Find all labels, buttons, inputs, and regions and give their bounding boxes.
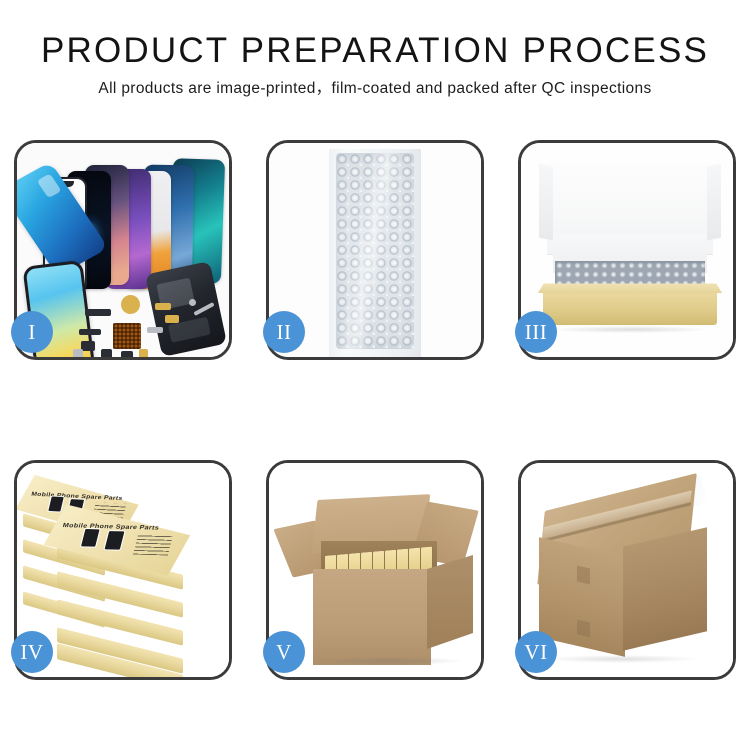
box-spec-lines-front <box>133 534 173 555</box>
part-button-icon <box>101 349 112 357</box>
product-preparation-infographic: PRODUCT PREPARATION PROCESS All products… <box>0 0 750 750</box>
part-sim-tray-icon <box>73 349 83 357</box>
step-panel-stacked-inner-boxes: Mobile Phone Spare Parts Mobile Pho <box>14 460 232 680</box>
process-steps-grid: I II <box>0 140 750 680</box>
box-artwork-screen-d <box>103 530 126 551</box>
step-panel-open-shipping-carton: V <box>266 460 484 680</box>
step-panel-sealed-shipping-carton: VI <box>518 460 736 680</box>
part-connector-a-icon <box>79 329 101 335</box>
inner-box-shadow <box>551 326 709 333</box>
part-speaker-icon <box>85 309 111 316</box>
step-panel-open-inner-box: III <box>518 140 736 360</box>
step-badge-6: VI <box>515 631 557 673</box>
part-camera-icon <box>121 351 133 357</box>
carton-handle-tab-bottom <box>577 619 590 637</box>
carton-shadow <box>313 657 463 665</box>
step-panel-products-and-spare-parts: I <box>14 140 232 360</box>
step-badge-2: II <box>263 311 305 353</box>
part-coil-icon <box>121 295 140 314</box>
step-badge-4: IV <box>11 631 53 673</box>
bubble-wrap-highlight <box>336 153 414 349</box>
page-title: PRODUCT PREPARATION PROCESS <box>0 30 750 72</box>
carton-side-face <box>427 555 473 649</box>
carton-front-face <box>313 569 431 665</box>
step-badge-5: V <box>263 631 305 673</box>
step-badge-3: III <box>515 311 557 353</box>
process-row-bottom: Mobile Phone Spare Parts Mobile Pho <box>0 460 750 680</box>
part-bracket-icon <box>147 327 163 333</box>
part-screw-pack-icon <box>139 349 148 357</box>
part-chip-array-icon <box>113 323 141 349</box>
sealed-carton-shadow <box>547 655 697 663</box>
part-flex-b-icon <box>165 315 179 323</box>
carton-handle-tab-top <box>577 565 590 584</box>
header: PRODUCT PREPARATION PROCESS All products… <box>0 30 750 99</box>
step-panel-bubble-wrap-sleeve: II <box>266 140 484 360</box>
part-flex-a-icon <box>155 303 171 310</box>
inner-box-tray-icon <box>543 291 717 325</box>
part-screwdriver-tip-icon <box>189 299 196 306</box>
process-row-top: I II <box>0 140 750 360</box>
part-connector-b-icon <box>81 341 95 351</box>
box-artwork-screen-c <box>80 528 101 548</box>
sealed-carton-right-face <box>623 527 707 650</box>
page-subtitle: All products are image-printed，film-coat… <box>0 79 750 99</box>
step-badge-1: I <box>11 311 53 353</box>
